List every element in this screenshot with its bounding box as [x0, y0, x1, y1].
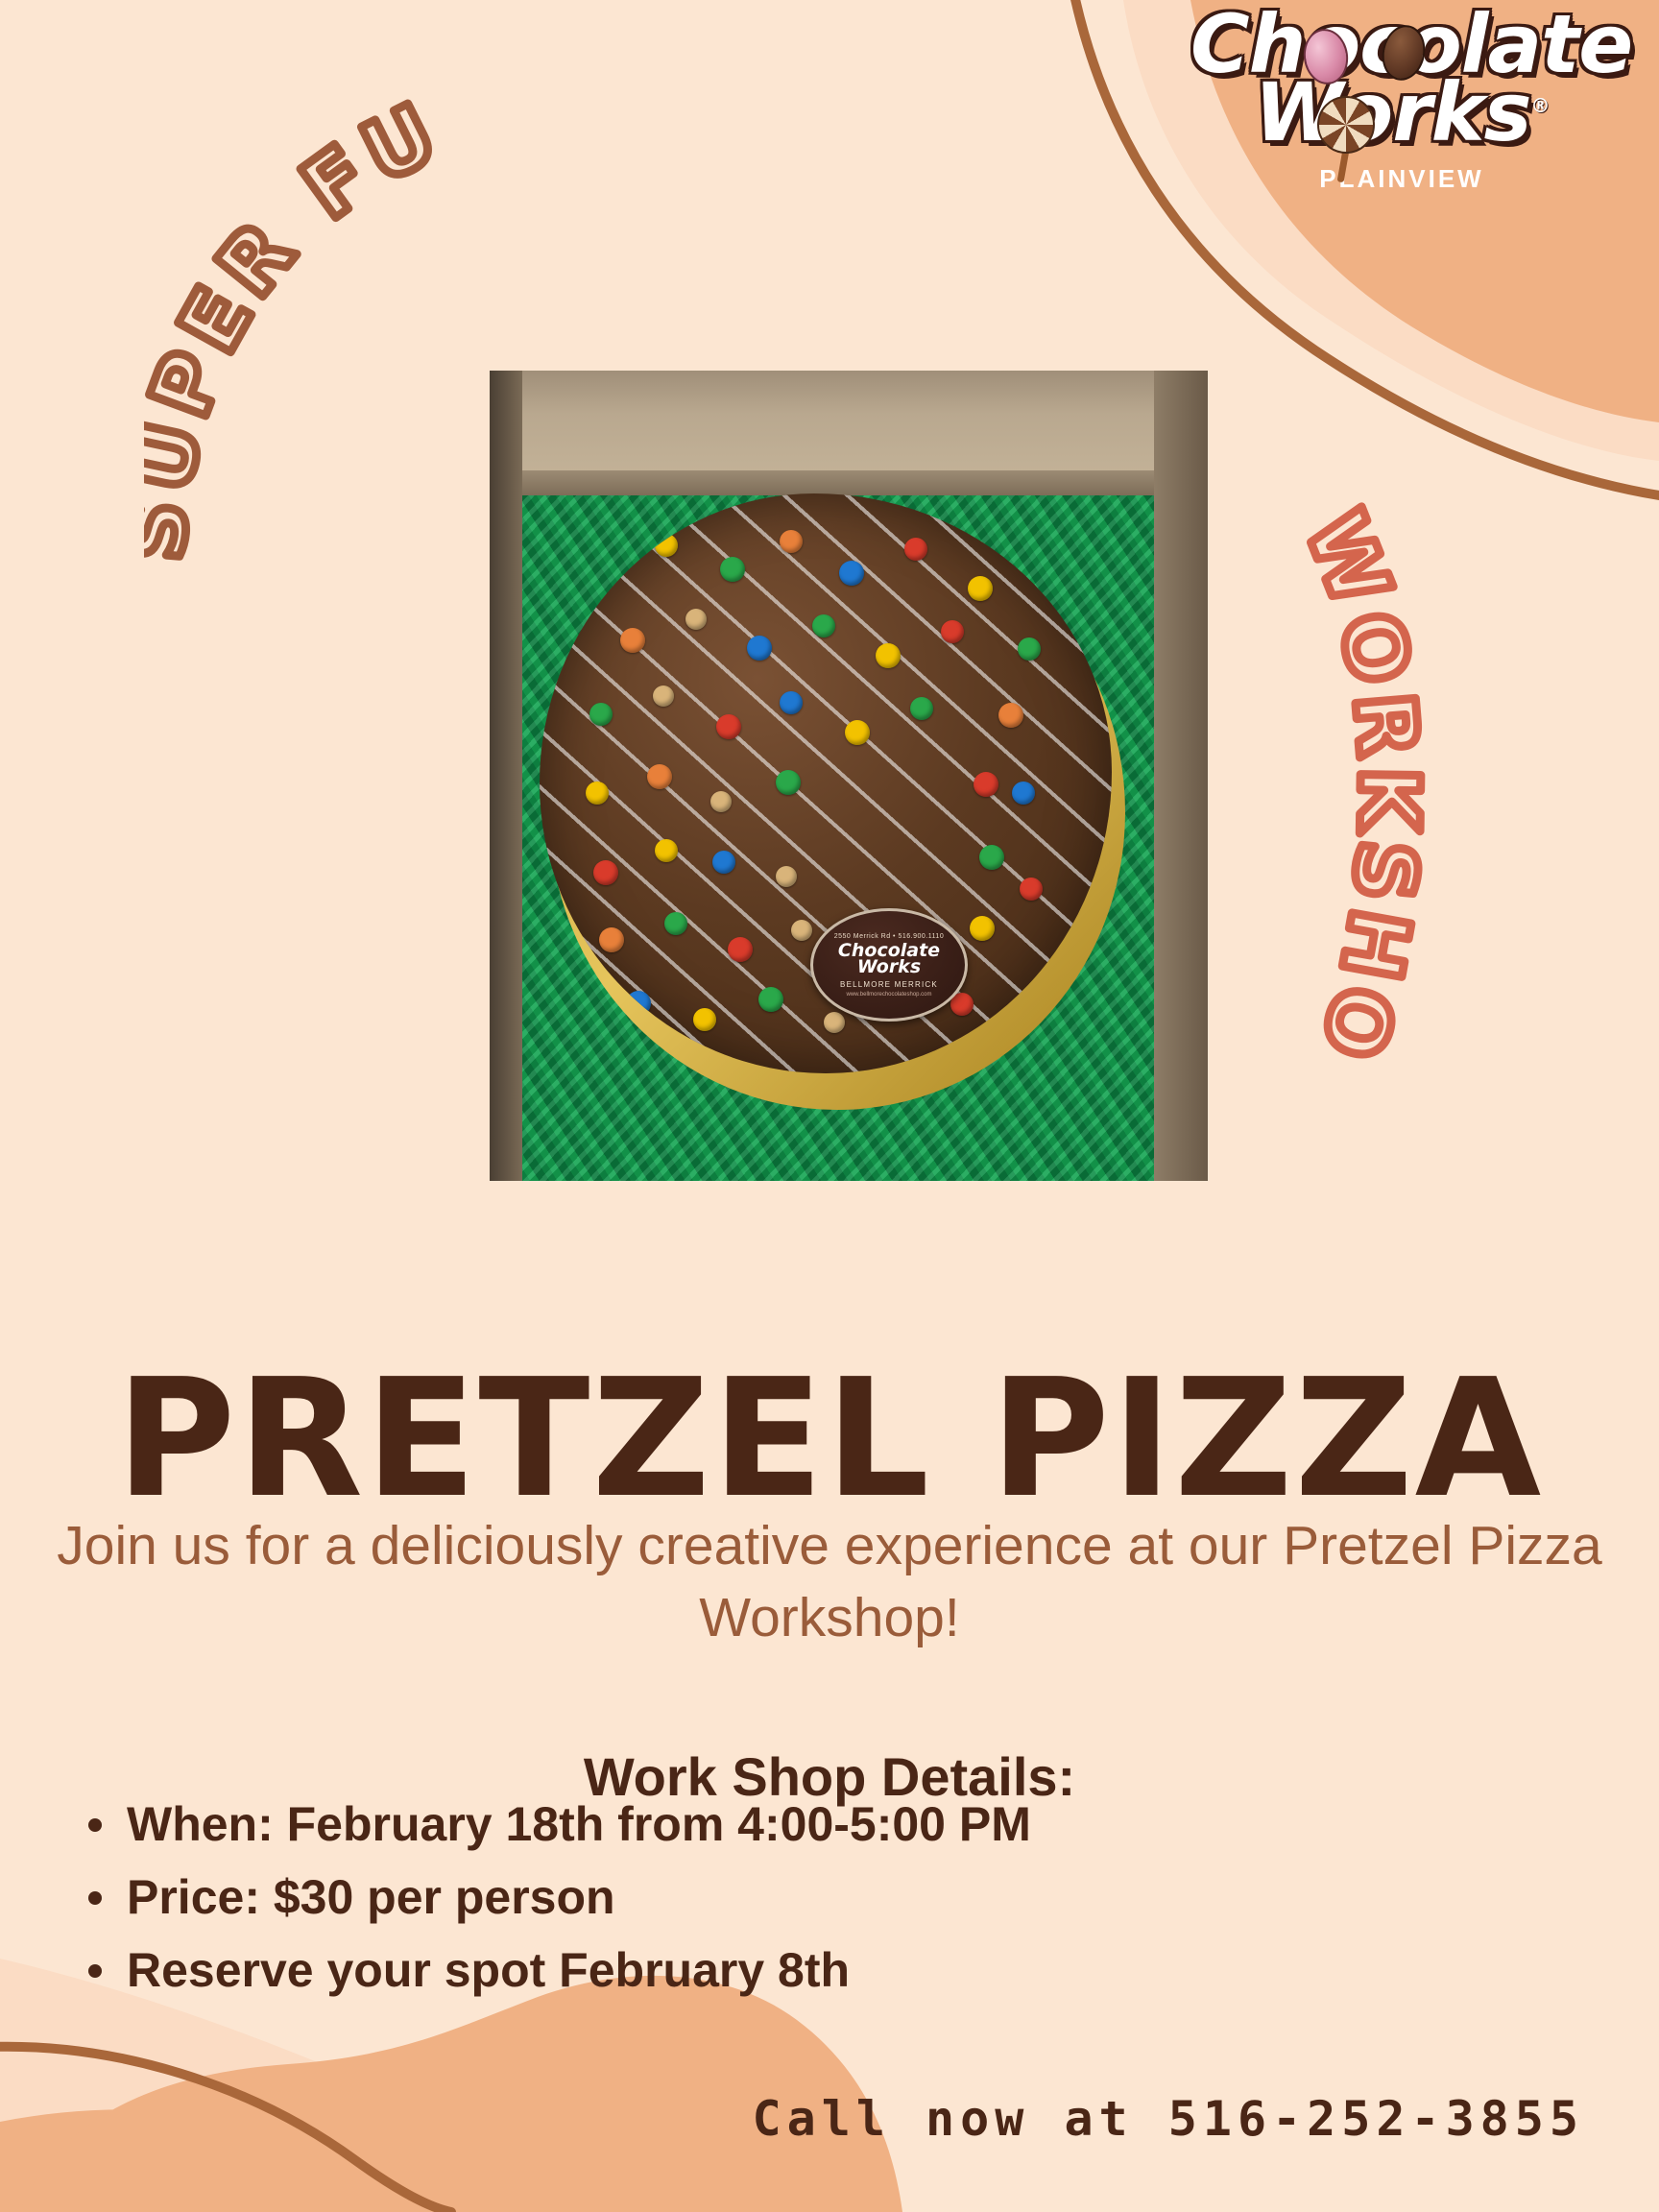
arc-heading-workshop: WORKSHOP [1181, 499, 1527, 1094]
arc-workshop-label: WORKSHOP [1181, 499, 1436, 1076]
intro-paragraph: Join us for a deliciously creative exper… [48, 1510, 1611, 1654]
arc-super-fun-label: SUPER FUN [144, 86, 457, 565]
list-item: When: February 18th from 4:00-5:00 PM [84, 1788, 1429, 1861]
sticker-website: www.bellmorechocolateshop.com [846, 992, 931, 998]
chocolate-pretzel-pizza: 2550 Merrick Rd • 516.900.1110 Chocolate… [540, 493, 1112, 1073]
chocolate-works-sticker: 2550 Merrick Rd • 516.900.1110 Chocolate… [810, 908, 968, 1022]
sticker-subtitle: BELLMORE MERRICK [840, 980, 938, 989]
sticker-address-line: 2550 Merrick Rd • 516.900.1110 [834, 933, 944, 940]
swirl-lollipop-icon [1317, 96, 1375, 154]
call-to-action-phone[interactable]: Call now at 516-252-3855 [0, 2091, 1584, 2147]
poster-canvas: Chocolate Works® PLAINVIEW SUPER FUN WOR… [0, 0, 1659, 2212]
cardboard-box-lid [490, 371, 1208, 495]
page-title: PRETZEL PIZZA [0, 1358, 1659, 1521]
sticker-brand-line2: Works [857, 958, 921, 976]
details-list: When: February 18th from 4:00-5:00 PM Pr… [46, 1788, 1429, 2007]
brand-logo: Chocolate Works® PLAINVIEW [1190, 8, 1613, 194]
logo-location-label: PLAINVIEW [1190, 164, 1613, 194]
list-item: Price: $30 per person [84, 1861, 1429, 1934]
arc-heading-super-fun: SUPER FUN [144, 86, 528, 624]
logo-word-works: Works® [1190, 76, 1613, 150]
pretzel-pizza-photo: 2550 Merrick Rd • 516.900.1110 Chocolate… [490, 371, 1208, 1181]
list-item: Reserve your spot February 8th [84, 1934, 1429, 2007]
registered-trademark-icon: ® [1531, 94, 1550, 117]
